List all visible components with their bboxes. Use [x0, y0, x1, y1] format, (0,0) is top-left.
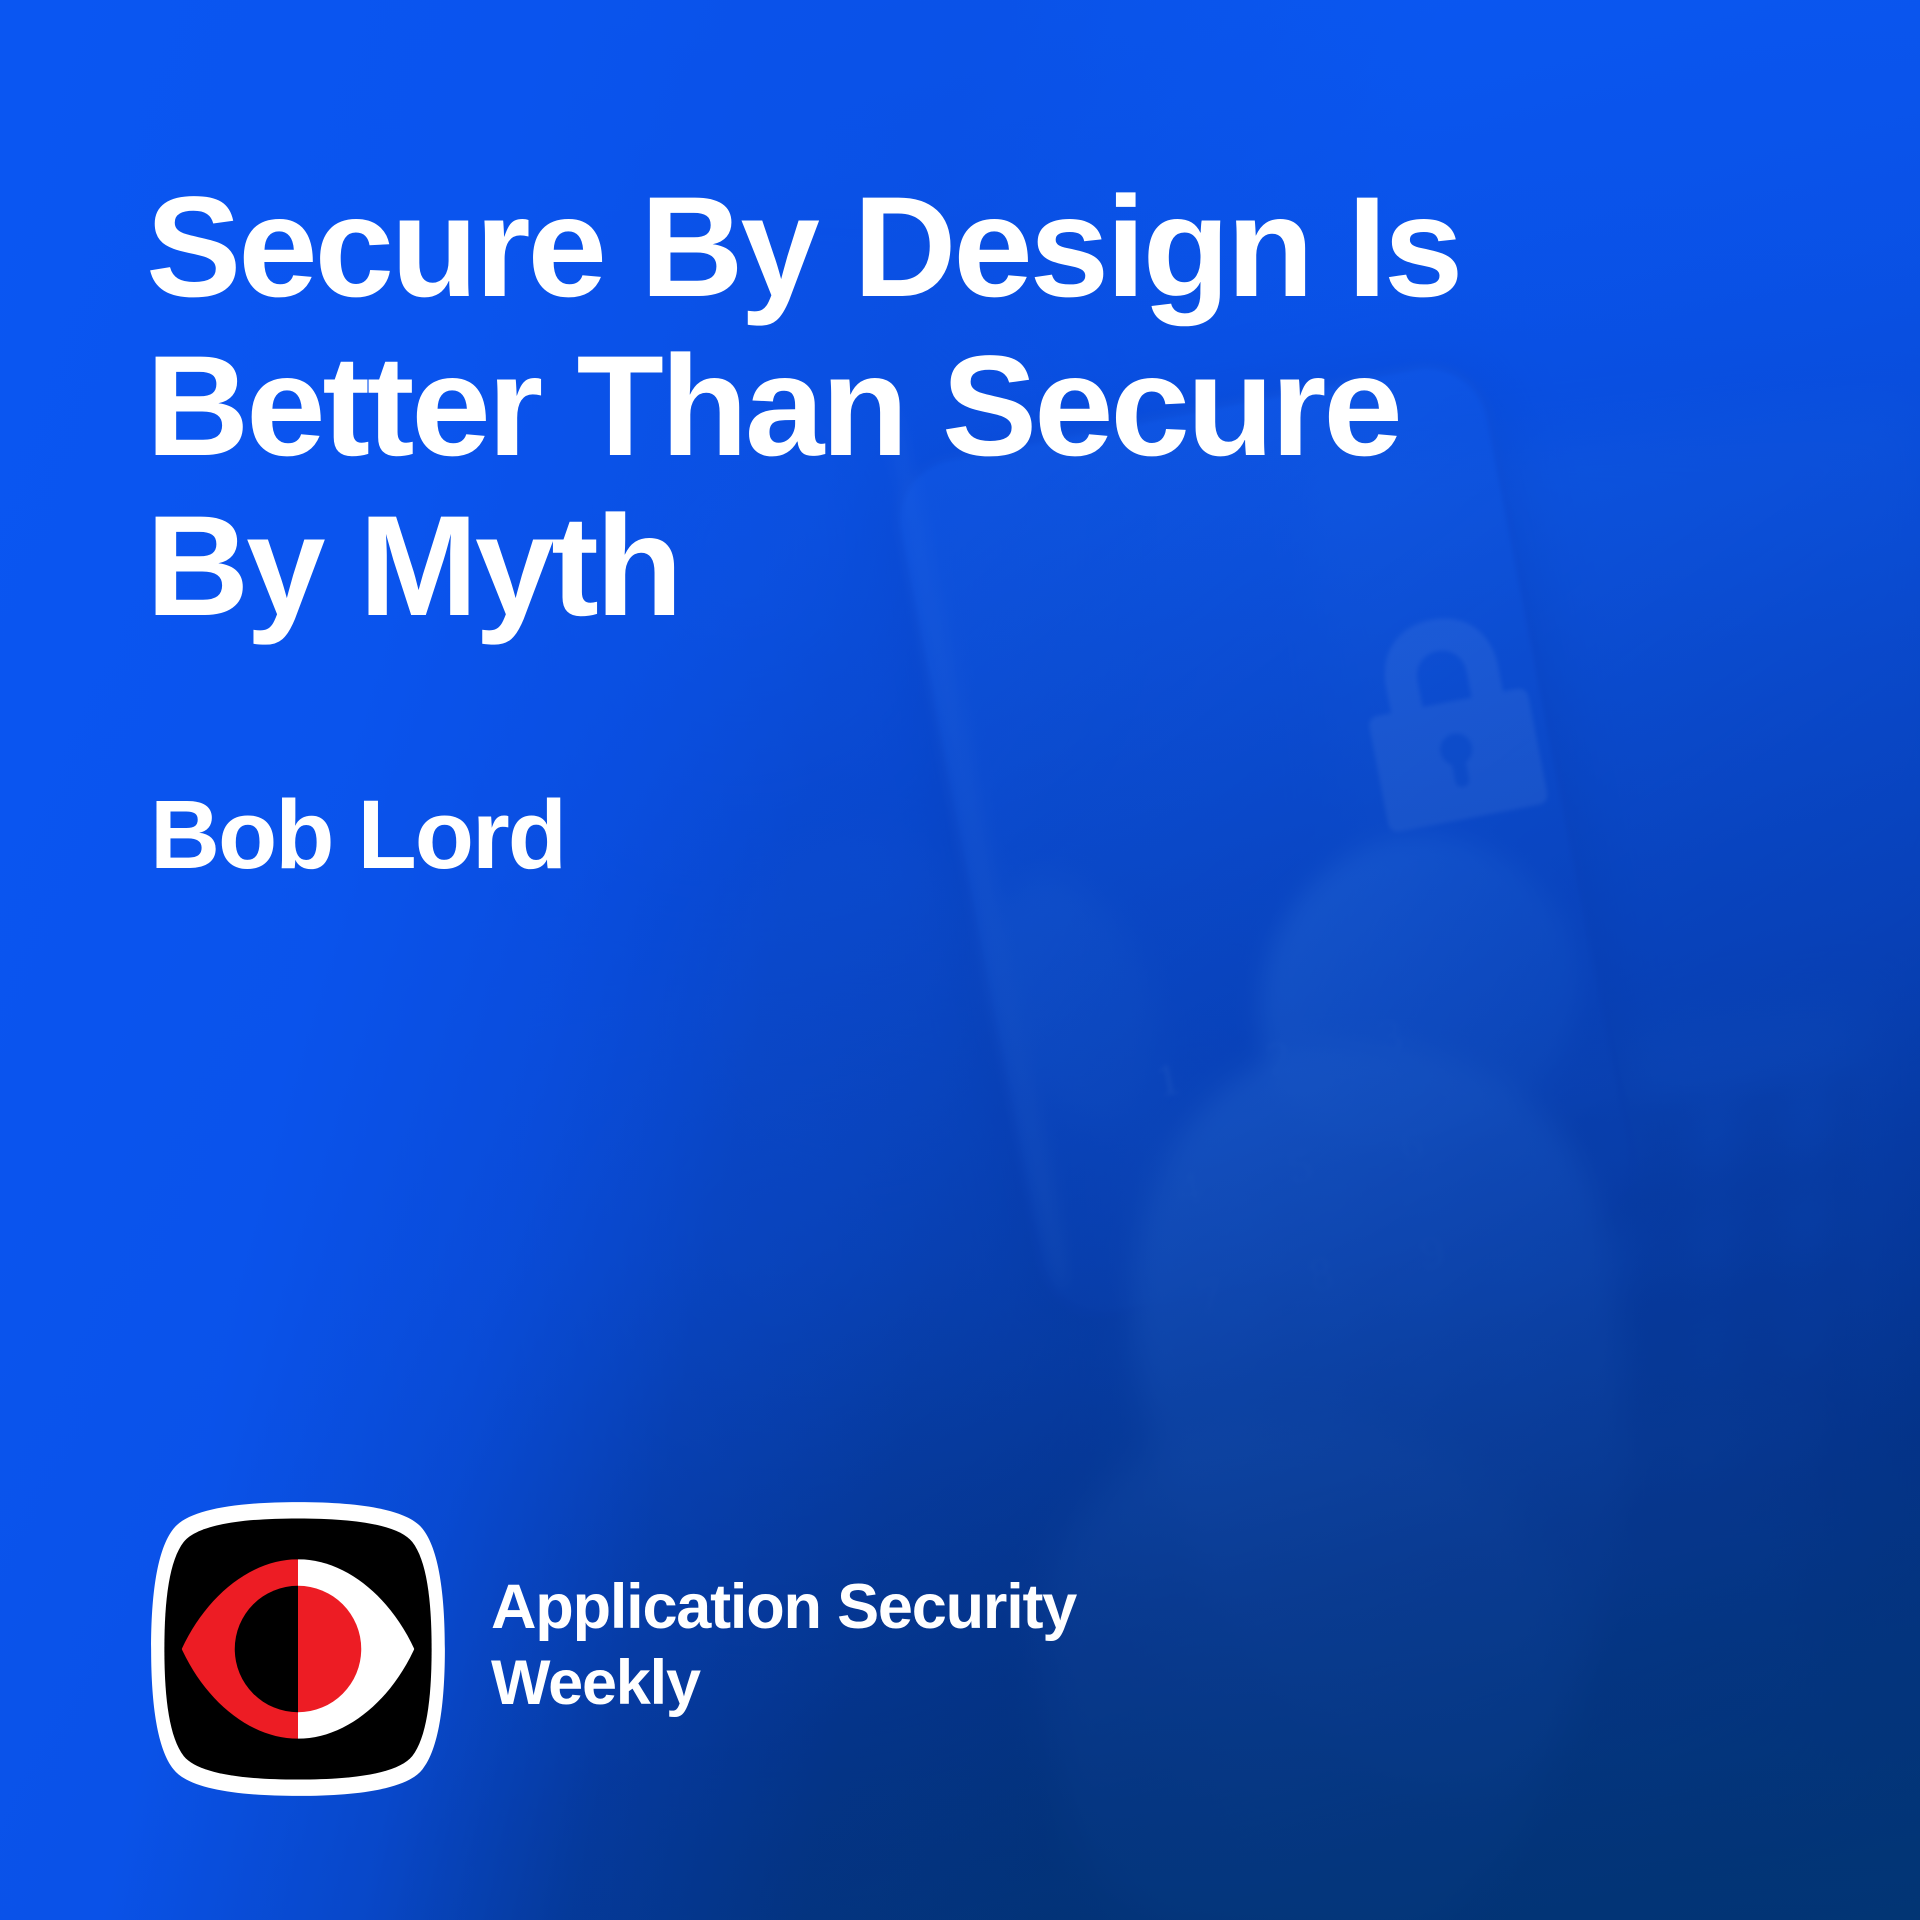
show-name: Application Security Weekly	[491, 1570, 1076, 1727]
show-branding: Application Security Weekly	[145, 1496, 1076, 1802]
episode-title: Secure By Design IsBetter Than SecureBy …	[146, 168, 1666, 646]
episode-title-line: Secure By Design Is	[146, 168, 1460, 327]
episode-title-line: Better Than Secure	[146, 327, 1400, 486]
episode-cover-art: 1 2 3 4 5 6 7 8 9 Secure By Design IsBet…	[0, 0, 1920, 1920]
episode-title-line: By Myth	[146, 487, 680, 646]
episode-guest-name: Bob Lord	[150, 786, 565, 883]
cover-content: Secure By Design IsBetter Than SecureBy …	[0, 0, 1920, 1920]
eye-logo	[145, 1496, 451, 1802]
